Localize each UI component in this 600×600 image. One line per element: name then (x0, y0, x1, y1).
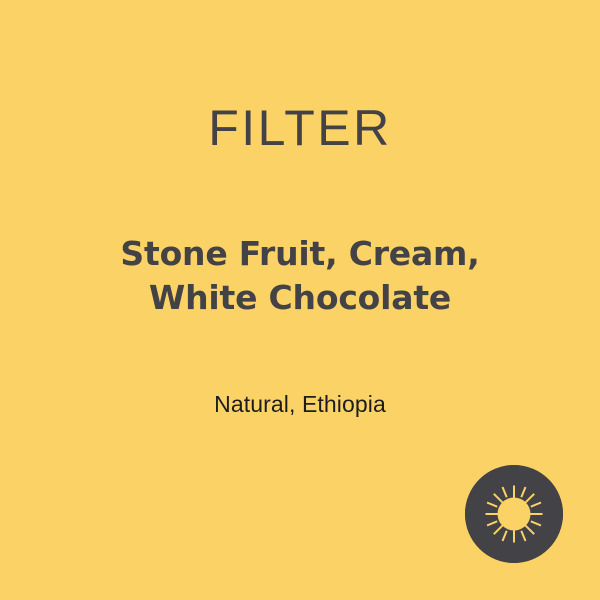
tasting-notes-line-1: Stone Fruit, Cream, (0, 232, 600, 276)
coffee-bag-label-card: FILTER Stone Fruit, Cream, White Chocola… (0, 0, 600, 600)
category-label: FILTER (0, 103, 600, 153)
tasting-notes-line-2: White Chocolate (0, 276, 600, 320)
sun-badge (465, 465, 563, 563)
origin-subtitle: Natural, Ethiopia (0, 393, 600, 416)
tasting-notes-heading: Stone Fruit, Cream, White Chocolate (0, 232, 600, 320)
sun-icon (465, 465, 563, 563)
